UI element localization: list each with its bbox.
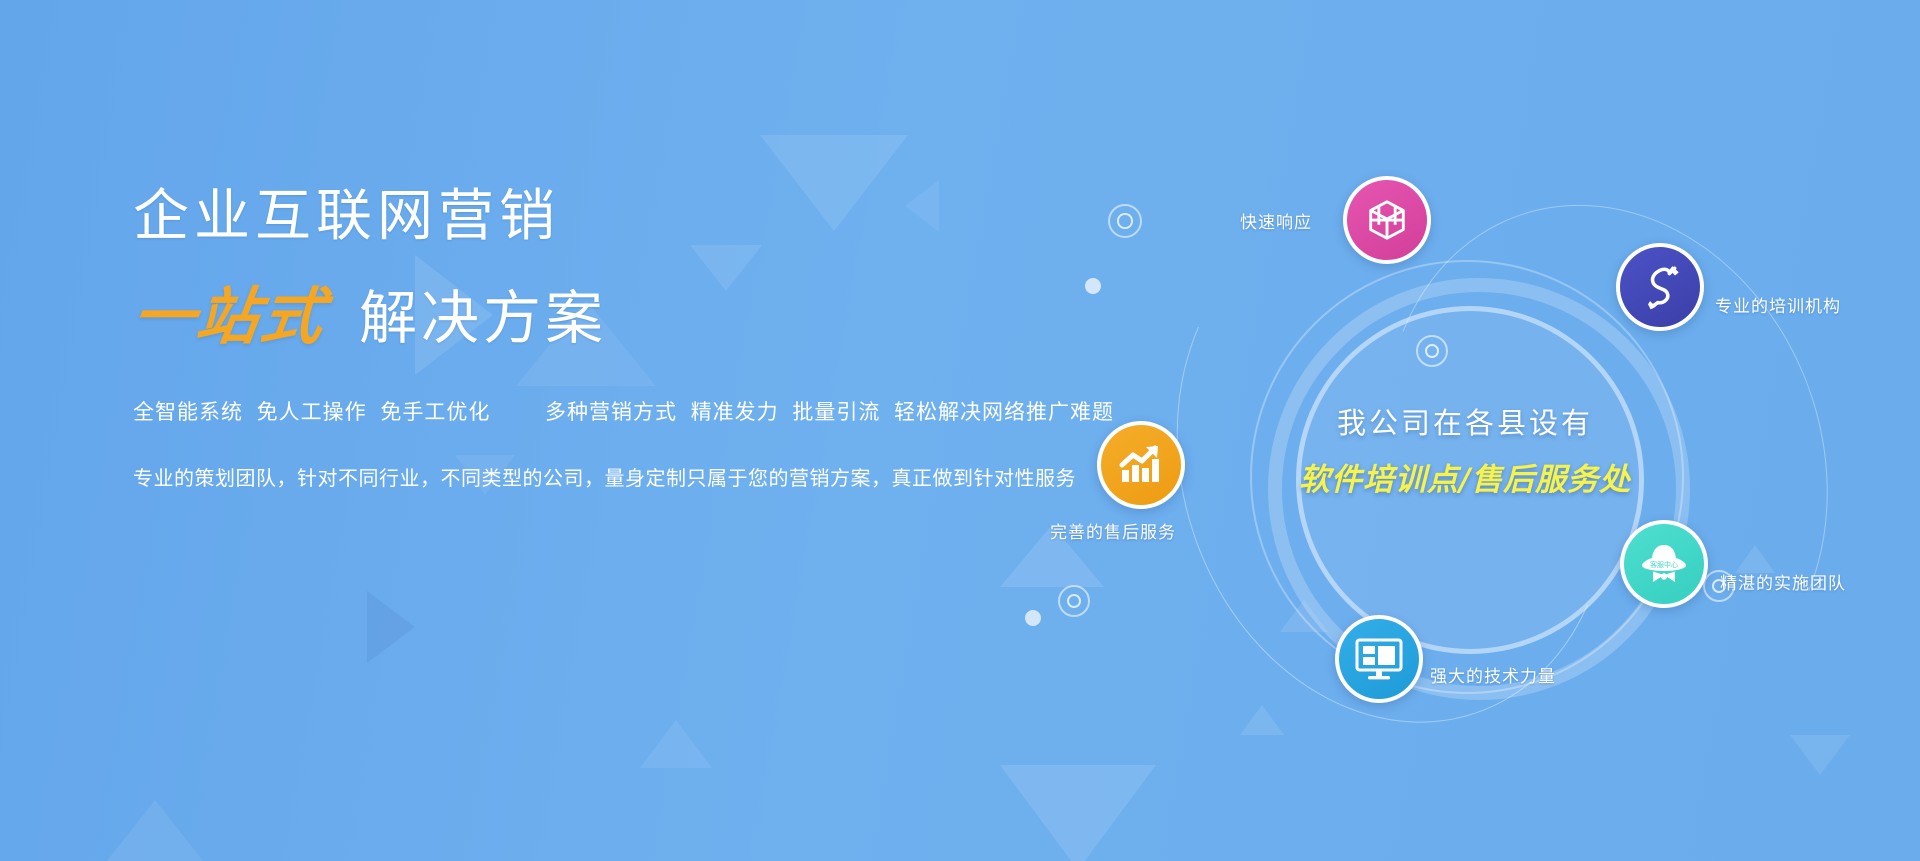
target-dot-top-left (1108, 204, 1142, 238)
page-title: 企业互联网营销 (133, 188, 1053, 244)
target-dot-left (1058, 585, 1090, 617)
subtitle-line-1: 全智能系统 免人工操作 免手工优化 多种营销方式 精准发力 批量引流 轻松解决网… (133, 396, 1053, 426)
center-caption-line-1: 我公司在各县设有 (1296, 400, 1634, 442)
pencil-s-icon (1635, 262, 1685, 312)
ring-graphic: 我公司在各县设有 软件培训点/售后服务处 (1090, 110, 1900, 830)
marketing-banner: 企业互联网营销 一站式 解决方案 全智能系统 免人工操作 免手工优化 多种营销方… (0, 0, 1920, 861)
technical-strength-bubble[interactable] (1335, 615, 1423, 703)
monitor-icon (1354, 636, 1404, 682)
technical-strength-label: 强大的技术力量 (1430, 662, 1556, 687)
cube-icon (1364, 197, 1410, 243)
implementation-team-bubble[interactable]: 客服中心 (1620, 520, 1708, 608)
training-org-bubble[interactable] (1616, 243, 1704, 331)
fast-response-bubble[interactable] (1343, 176, 1431, 264)
target-dot-mid-right (1416, 335, 1448, 367)
implementation-team-label: 精湛的实施团队 (1720, 569, 1846, 594)
center-caption: 我公司在各县设有 软件培训点/售后服务处 (1296, 400, 1634, 499)
after-sales-label: 完善的售后服务 (1050, 518, 1176, 543)
marker-dot (1085, 278, 1101, 294)
bg-triangle (367, 591, 415, 663)
headline-rest-text: 解决方案 (359, 290, 607, 348)
training-org-label: 专业的培训机构 (1715, 292, 1841, 317)
headline-secondary: 一站式 解决方案 (133, 286, 1053, 348)
headline-block: 企业互联网营销 一站式 解决方案 全智能系统 免人工操作 免手工优化 多种营销方… (133, 188, 1053, 491)
service-hat-icon: 客服中心 (1638, 541, 1690, 587)
bg-triangle (640, 720, 712, 768)
center-caption-line-2: 软件培训点/售后服务处 (1296, 454, 1634, 499)
after-sales-bubble[interactable] (1097, 421, 1185, 509)
headline-accent-text: 一站式 (129, 286, 330, 348)
service-hat-icon-text: 客服中心 (1650, 560, 1678, 569)
bg-triangle (95, 800, 215, 861)
growth-chart-icon (1117, 443, 1165, 487)
subtitle-line-2: 专业的策划团队，针对不同行业，不同类型的公司，量身定制只属于您的营销方案，真正做… (133, 462, 1053, 491)
fast-response-label: 快速响应 (1240, 208, 1312, 233)
marker-dot (1025, 610, 1041, 626)
